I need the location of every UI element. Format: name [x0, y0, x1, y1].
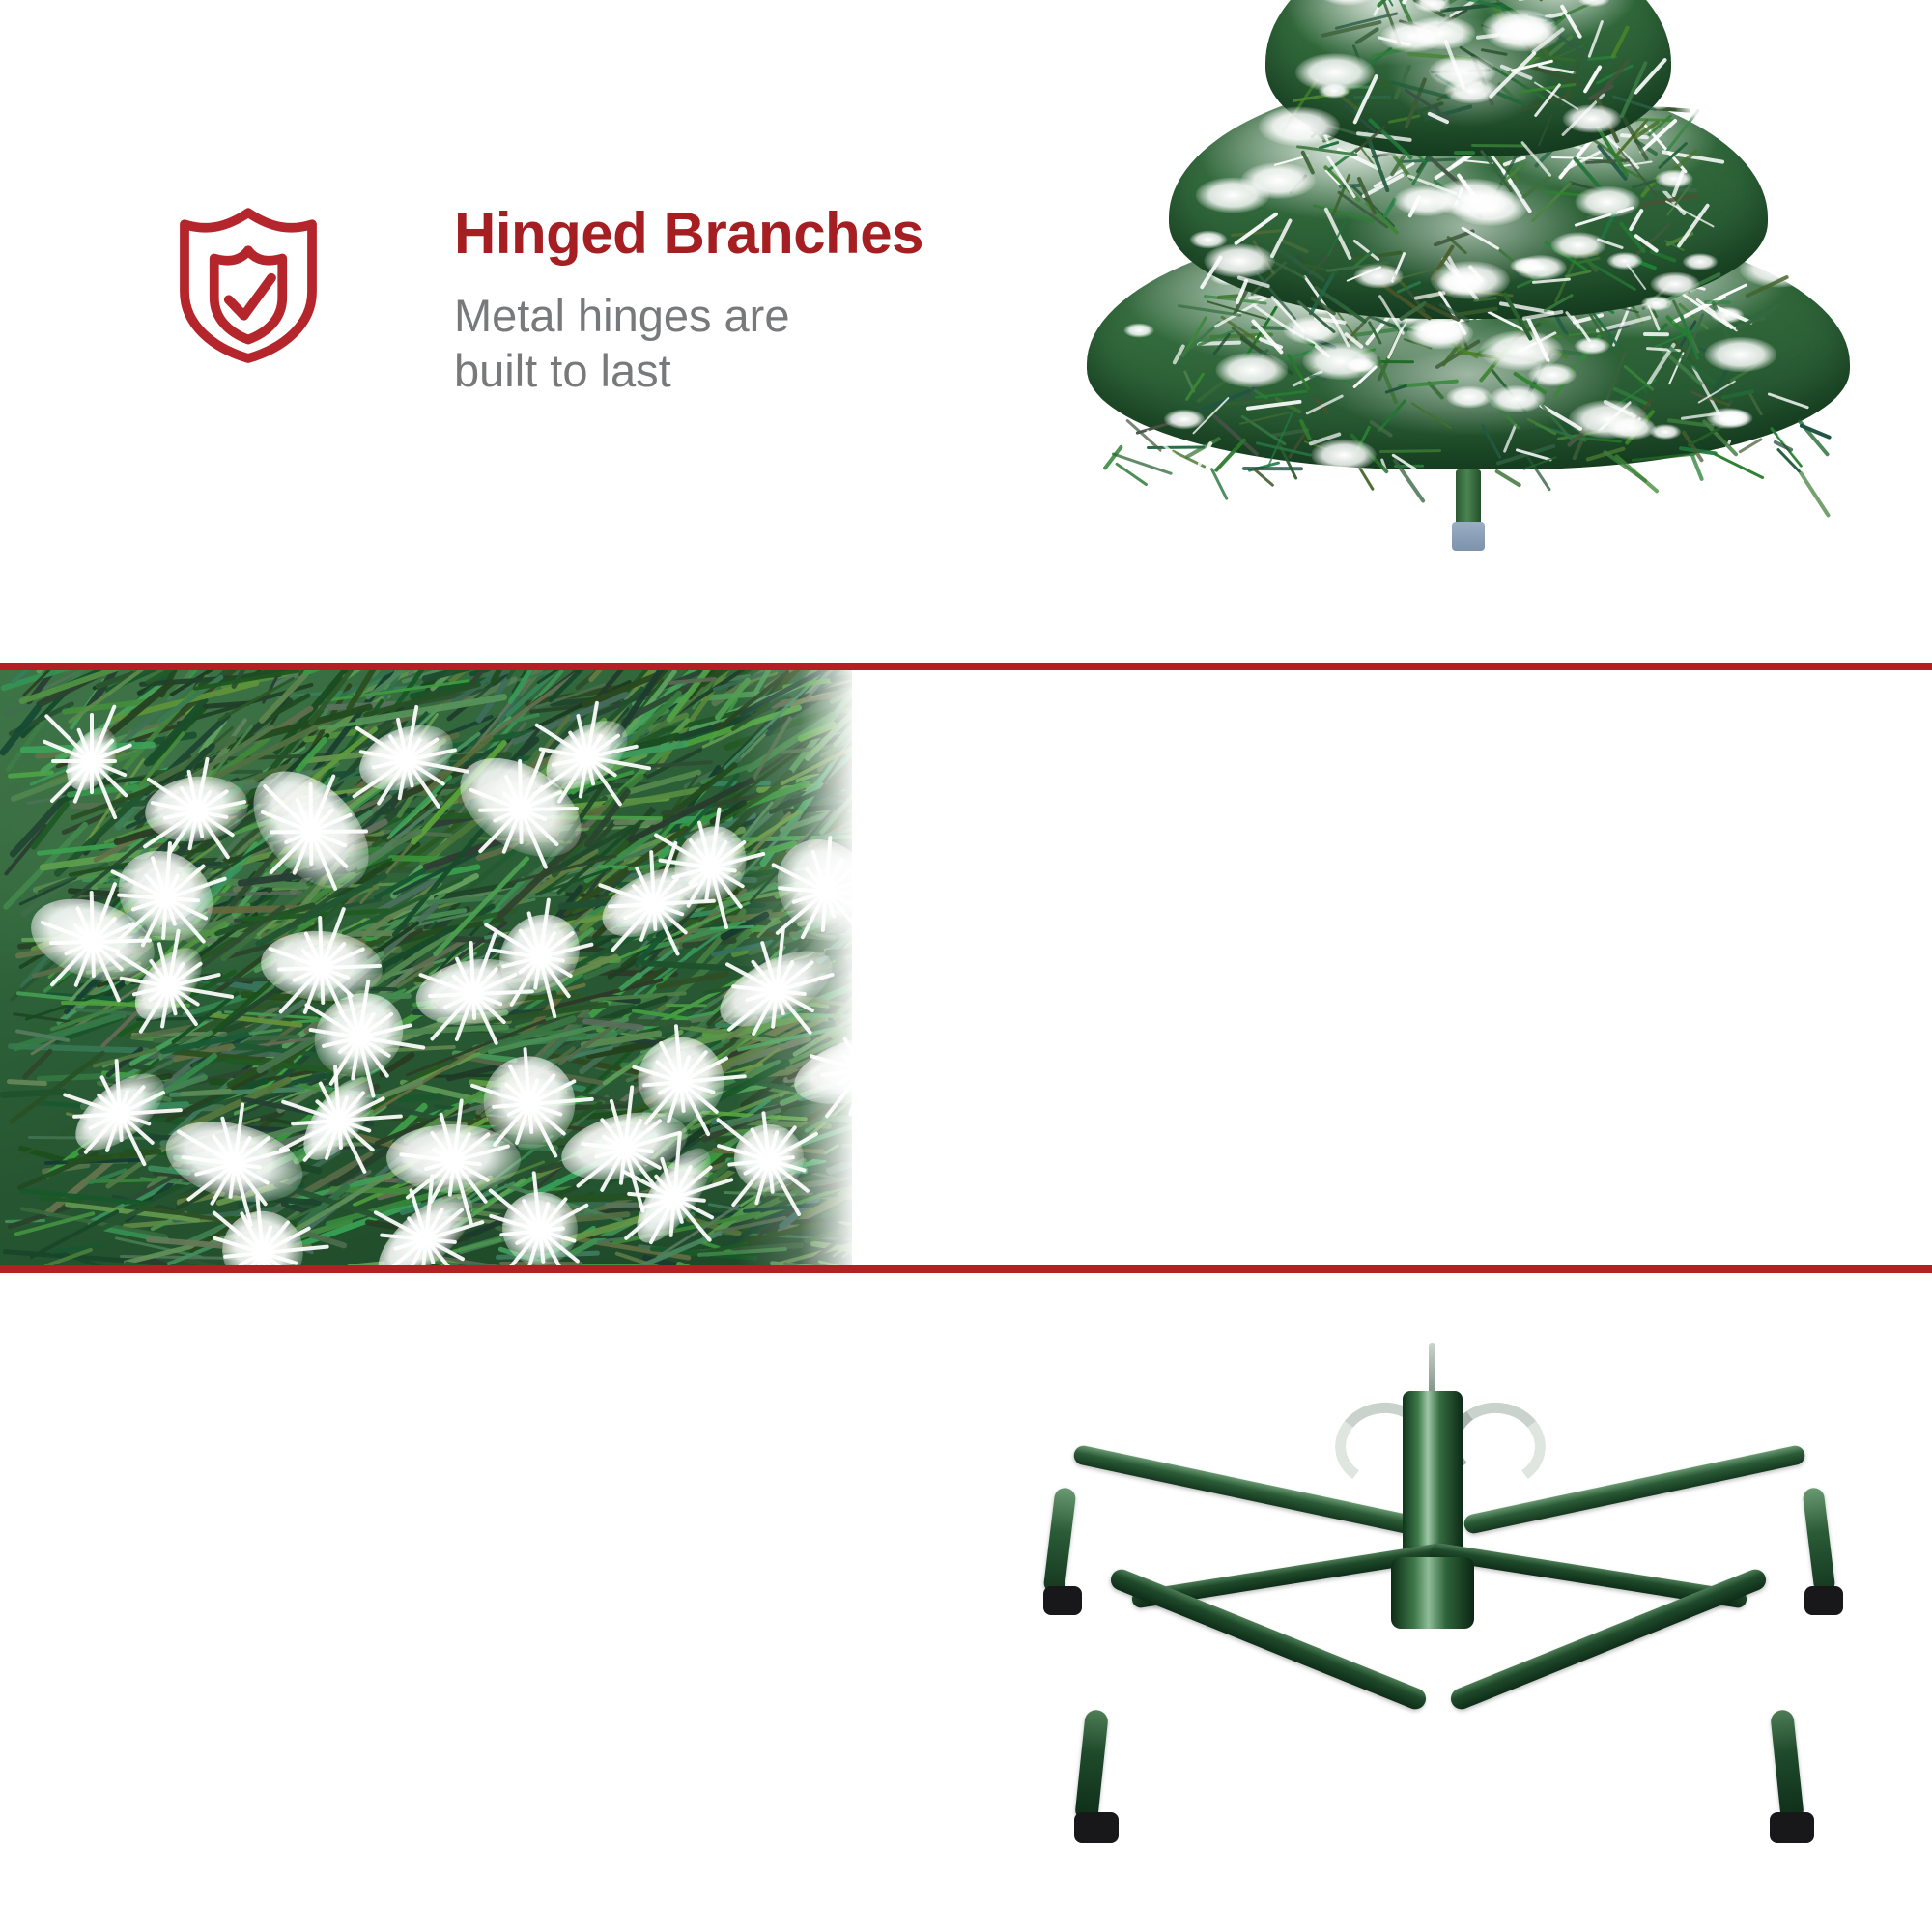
stand-leg-front-left [1108, 1566, 1430, 1713]
stand-foot-cap [1074, 1812, 1119, 1843]
description-line: Metal hinges are [454, 288, 923, 343]
stand-foot-cap [1770, 1812, 1814, 1843]
stand-leg-front-right-drop [1770, 1709, 1804, 1823]
tree-trunk [1456, 469, 1481, 526]
section-pvc-tips: PVC Tips Flame-retardant and easy to flu… [0, 670, 1932, 1265]
stand-leg-front-right [1448, 1566, 1770, 1713]
section-divider [0, 1265, 1932, 1273]
metal-tree-stand-photo [985, 1343, 1893, 1884]
flocked-christmas-tree-photo [1053, 0, 1884, 618]
shield-check-icon [176, 201, 321, 365]
stand-center-pin [1429, 1343, 1435, 1397]
flocked-branch-closeup-photo [0, 670, 852, 1265]
hinged-branches-text-block: Hinged Branches Metal hinges are built t… [454, 205, 923, 399]
hinged-branches-description: Metal hinges are built to last [454, 288, 923, 399]
photo-edge-fade [736, 670, 852, 1265]
stand-leg-back-right-drop [1802, 1487, 1835, 1595]
branch-needles [0, 670, 852, 1265]
stand-foot-cap [1804, 1586, 1843, 1615]
stand-leg-front-left-drop [1074, 1709, 1109, 1823]
tree-tier-top [1265, 0, 1671, 156]
section-divider [0, 663, 1932, 670]
stand-foot-cap [1043, 1586, 1082, 1615]
stand-leg-back-left-drop [1042, 1487, 1076, 1595]
tree-foot [1452, 522, 1485, 551]
stand-collar [1391, 1557, 1474, 1629]
infographic-page: Hinged Branches Metal hinges are built t… [0, 0, 1932, 1932]
description-line: built to last [454, 343, 923, 398]
section-hinged-branches: Hinged Branches Metal hinges are built t… [0, 0, 1932, 663]
tree-foliage [1082, 0, 1855, 483]
hinged-branches-title: Hinged Branches [454, 205, 923, 263]
